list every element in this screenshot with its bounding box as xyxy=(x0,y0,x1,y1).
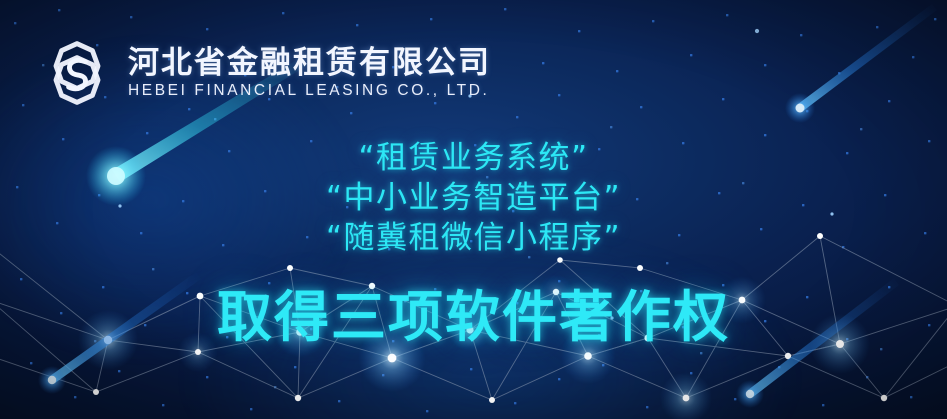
company-name-cn: 河北省金融租赁有限公司 xyxy=(128,47,491,80)
company-name-en: HEBEI FINANCIAL LEASING CO., LTD. xyxy=(128,83,491,99)
promo-banner: 河北省金融租赁有限公司 HEBEI FINANCIAL LEASING CO.,… xyxy=(0,0,947,419)
system-list: “租赁业务系统” “中小业务智造平台” “随冀租微信小程序” xyxy=(0,138,947,258)
system-line-1: “租赁业务系统” xyxy=(0,138,947,178)
system-line-2: “中小业务智造平台” xyxy=(0,178,947,218)
brand-lockup: 河北省金融租赁有限公司 HEBEI FINANCIAL LEASING CO.,… xyxy=(42,38,491,108)
company-logo-icon xyxy=(42,38,112,108)
system-line-3: “随冀租微信小程序” xyxy=(0,218,947,258)
announcement-headline: 取得三项软件著作权 xyxy=(0,286,947,348)
